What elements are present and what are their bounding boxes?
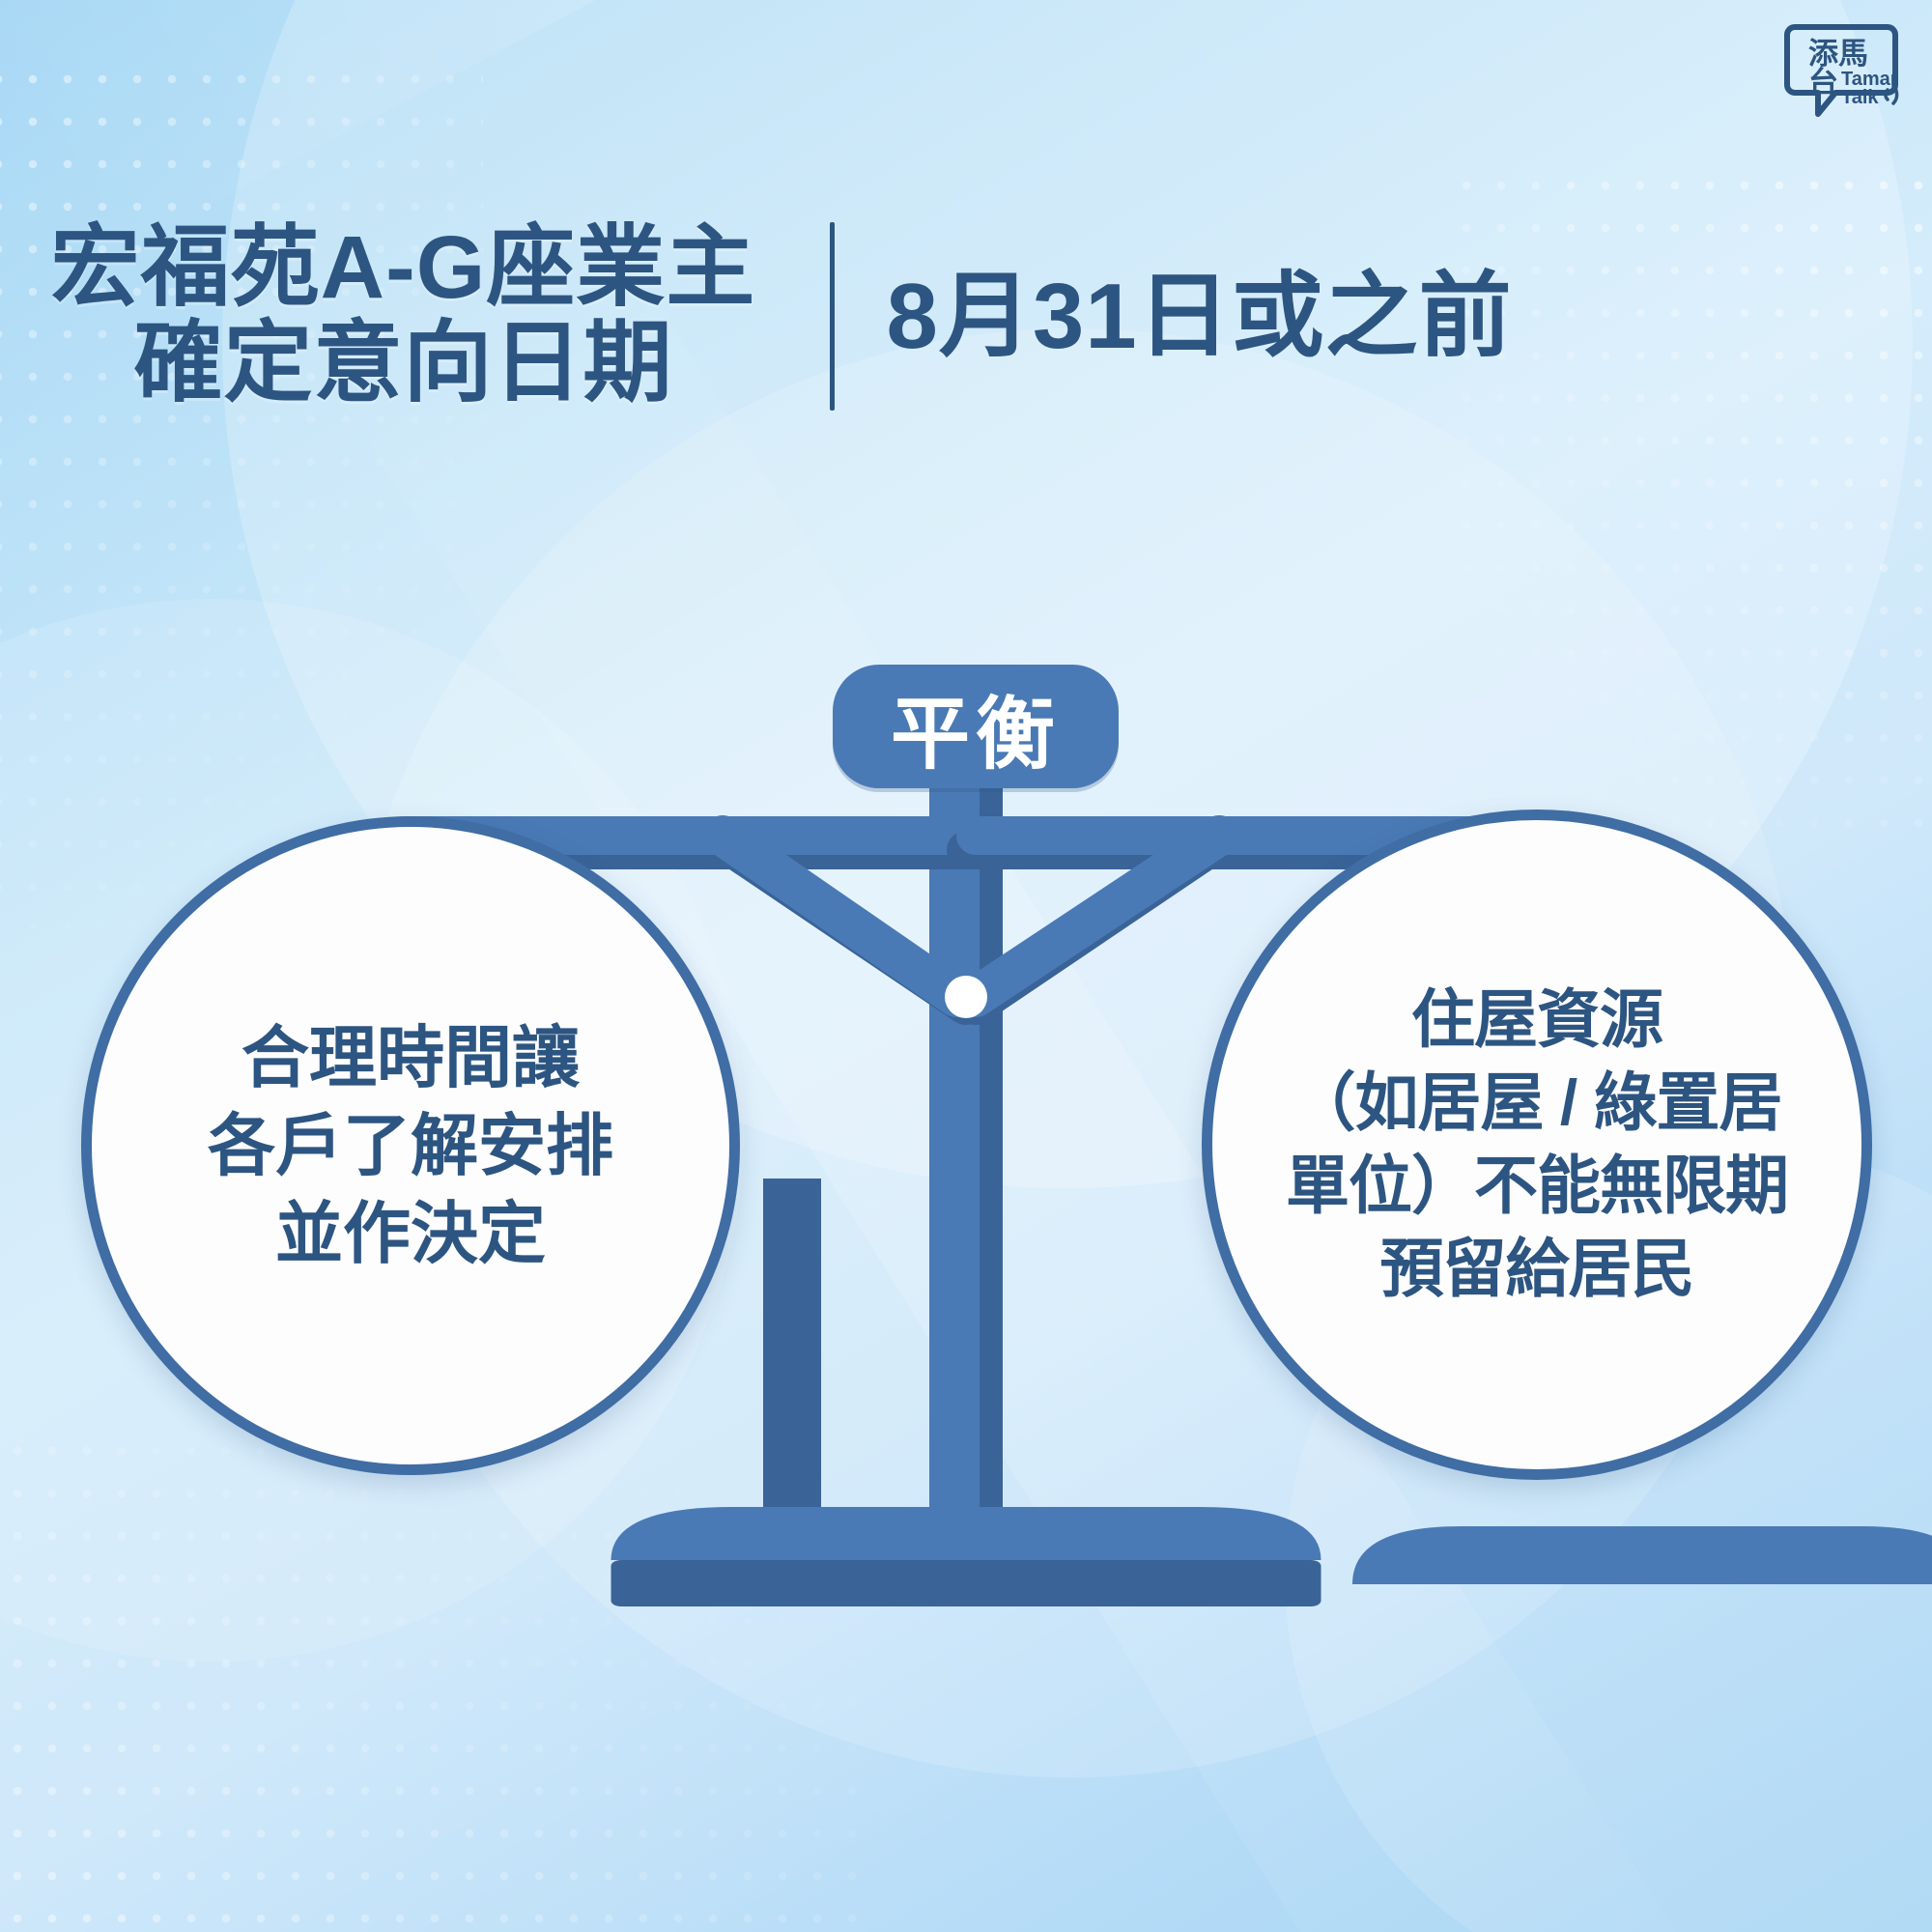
scale-fulcrum-dot [945, 976, 987, 1018]
header-divider [830, 222, 835, 411]
logo-en-line2: Talk [1841, 87, 1879, 108]
headline-line-2: 確定意向日期 [22, 316, 785, 412]
deadline-text: 8月31日或之前 [879, 267, 1911, 367]
scale-base-top [1352, 1526, 1932, 1584]
scale-base-shadow [611, 1560, 1321, 1606]
scale-pan-right-text: 住屋資源 （如居屋 / 綠置居 單位）不能無限期 預留給居民 [1263, 979, 1811, 1310]
balance-badge-label: 平衡 [891, 669, 1061, 784]
headline-line-1: 宏福苑A-G座業主 [22, 220, 785, 316]
header-block: 宏福苑A-G座業主 確定意向日期 8月31日或之前 [0, 220, 1932, 412]
left-pan-line-2: 各戶了解安排 [208, 1102, 613, 1190]
logo-cn-sub: 台 [1808, 66, 1838, 99]
scale-pan-left-text: 合理時間讓 各戶了解安排 並作決定 [185, 1014, 637, 1278]
scale-pan-left: 合理時間讓 各戶了解安排 並作決定 [81, 816, 740, 1475]
left-pan-line-1: 合理時間讓 [208, 1014, 613, 1102]
right-pan-line-2: （如居屋 / 綠置居 [1286, 1062, 1788, 1145]
balance-badge: 平衡 [833, 665, 1119, 788]
right-pan-line-1: 住屋資源 [1286, 979, 1788, 1062]
headline-group: 宏福苑A-G座業主 確定意向日期 [22, 220, 785, 412]
left-pan-line-3: 並作決定 [208, 1190, 613, 1278]
right-pan-line-4: 預留給居民 [1286, 1228, 1788, 1311]
tamar-talk-logo: 添馬 台 Tamar Talk [1779, 14, 1907, 122]
poster-canvas: 添馬 台 Tamar Talk 宏福苑A-G座業主 確定意向日期 8月31日或之… [0, 0, 1932, 1932]
scale-pan-right: 住屋資源 （如居屋 / 綠置居 單位）不能無限期 預留給居民 [1202, 810, 1872, 1480]
scale-base [611, 1507, 1321, 1560]
right-pan-line-3: 單位）不能無限期 [1286, 1145, 1788, 1228]
scale-post-highlight [980, 676, 1003, 1589]
